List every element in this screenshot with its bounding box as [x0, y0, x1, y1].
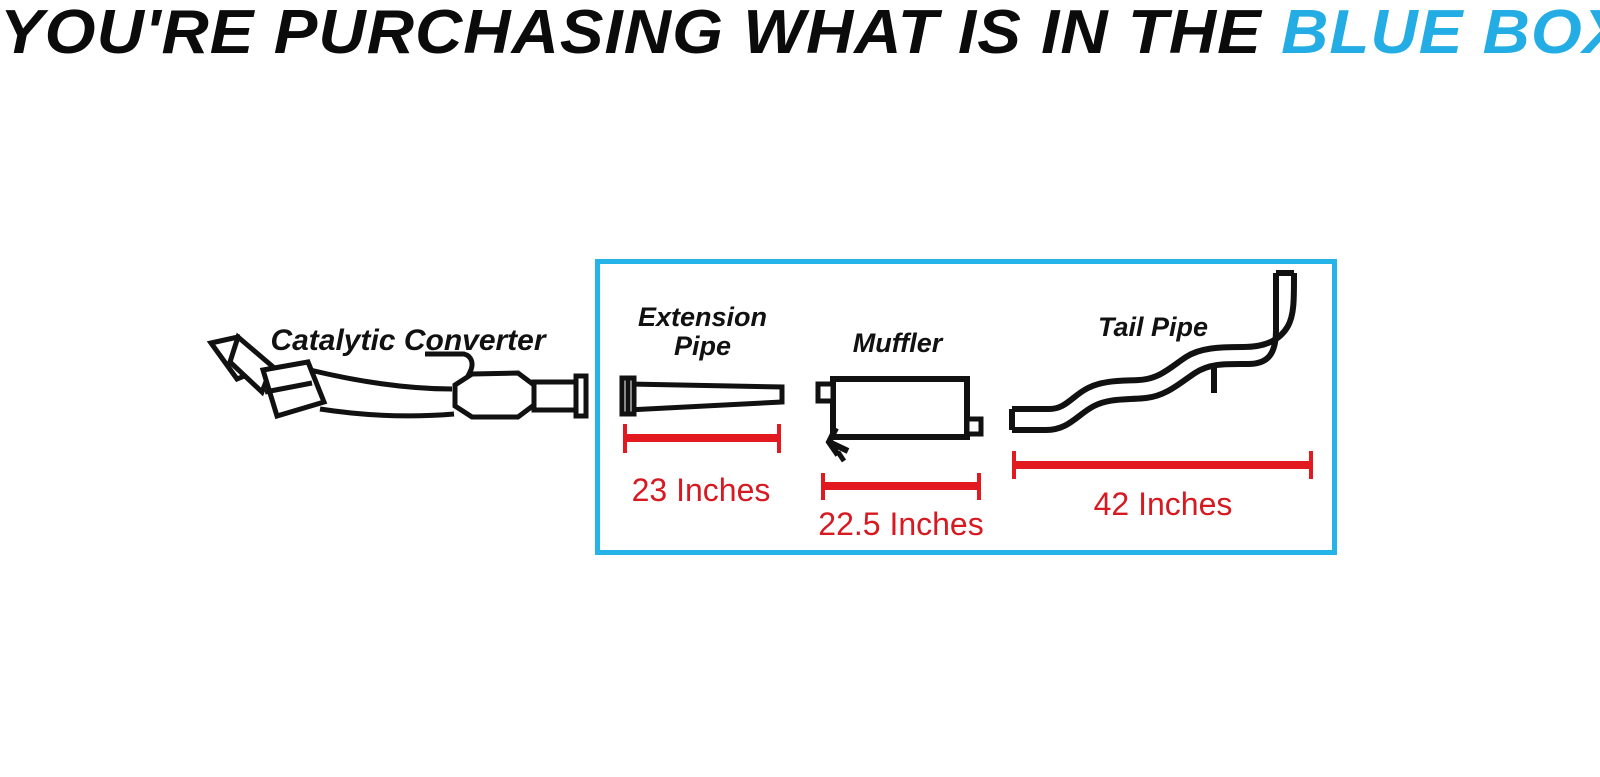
headline-blue-text: BLUE BOX — [1281, 0, 1600, 67]
label-catalytic-converter: Catalytic Converter — [253, 325, 563, 357]
headline-banner: YOU'RE PURCHASING WHAT IS IN THE BLUE BO… — [0, 0, 1600, 70]
dimension-label-extension-pipe: 23 Inches — [596, 472, 806, 509]
label-extension-pipe: Extension Pipe — [605, 303, 800, 360]
dimension-label-muffler: 22.5 Inches — [790, 506, 1012, 543]
label-tail-pipe: Tail Pipe — [1068, 313, 1238, 342]
headline-black-text: YOU'RE PURCHASING WHAT IS IN THE — [0, 0, 1281, 67]
exhaust-system-listing-image: YOU'RE PURCHASING WHAT IS IN THE BLUE BO… — [0, 0, 1600, 777]
dimension-label-tail-pipe: 42 Inches — [1052, 486, 1274, 523]
label-muffler: Muffler — [805, 329, 990, 358]
